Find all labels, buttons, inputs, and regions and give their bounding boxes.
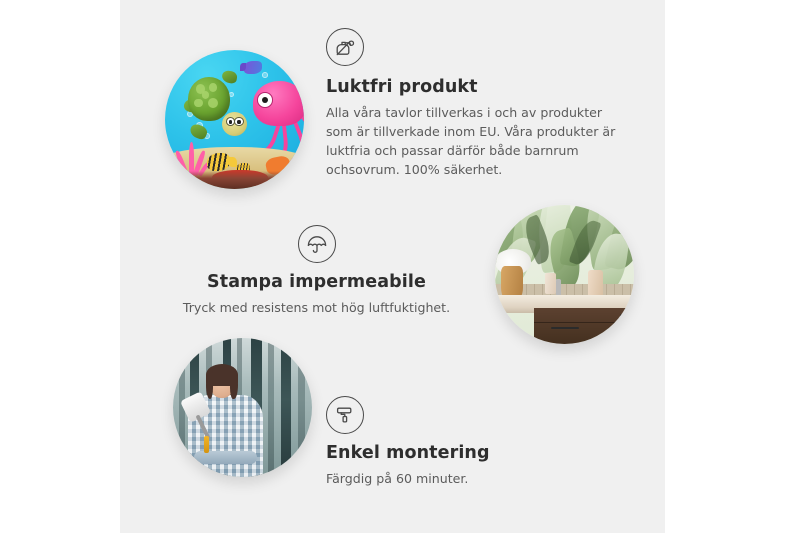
feature-block-stampa-impermeabile: Stampa impermeabile Tryck med resistens … <box>144 225 489 317</box>
feature-title: Stampa impermeabile <box>144 272 489 294</box>
no-odor-icon <box>326 28 364 66</box>
feature-body: Tryck med resistens mot hög luftfuktighe… <box>144 298 489 317</box>
paint-roller-icon <box>326 396 364 434</box>
umbrella-icon <box>298 225 336 263</box>
feature-title: Luktfri produkt <box>326 77 626 99</box>
feature-block-luktfri-produkt: Luktfri produkt Alla våra tavlor tillver… <box>326 28 626 179</box>
feature-block-enkel-montering: Enkel montering Färgdig på 60 minuter. <box>326 396 626 488</box>
feature-image-underwater-kids-scene <box>165 50 304 189</box>
feature-title: Enkel montering <box>326 443 626 465</box>
product-feature-infographic: Luktfri produkt Alla våra tavlor tillver… <box>0 0 800 533</box>
feature-body: Alla våra tavlor tillverkas i och av pro… <box>326 103 626 180</box>
feature-image-bathroom-leaf-wallpaper <box>495 205 634 344</box>
feature-image-woman-painter-forest <box>173 338 312 477</box>
turtle-illustration <box>184 75 248 136</box>
feature-body: Färgdig på 60 minuter. <box>326 469 626 488</box>
woman-painter-illustration <box>187 369 265 477</box>
content-panel: Luktfri produkt Alla våra tavlor tillver… <box>120 0 665 533</box>
